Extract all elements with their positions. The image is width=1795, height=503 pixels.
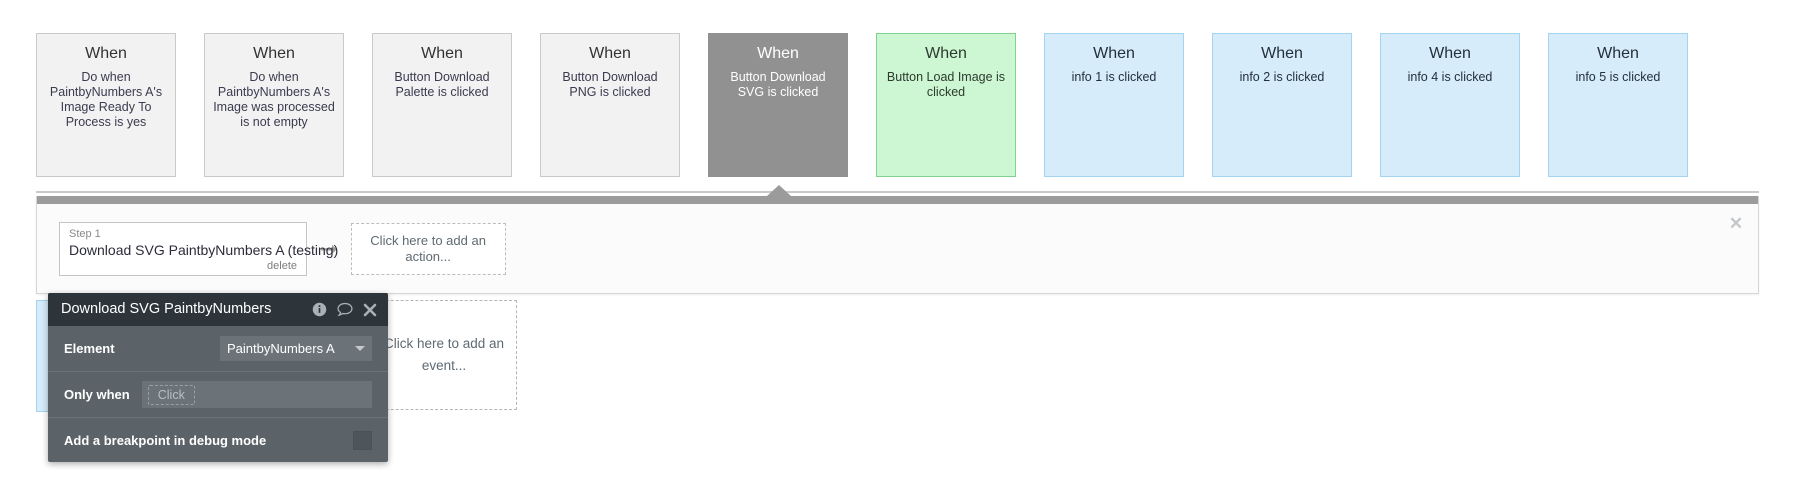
close-icon[interactable] [363, 303, 377, 317]
step-number-label: Step 1 [69, 228, 297, 241]
event-card-description: Button Download SVG is clicked [717, 70, 839, 100]
only-when-input[interactable]: Click [142, 381, 372, 408]
workflow-actions-panel: ✕ Step 1 Download SVG PaintbyNumbers A (… [36, 196, 1759, 294]
breakpoint-checkbox[interactable] [353, 431, 372, 450]
add-event-placeholder[interactable]: Click here to add an event... [371, 300, 517, 410]
event-card-title: When [1389, 44, 1511, 64]
add-action-placeholder[interactable]: Click here to add an action... [351, 223, 506, 275]
event-cards-strip: When Do when PaintbyNumbers A's Image Re… [0, 0, 1795, 196]
workflow-step-1[interactable]: Step 1 Download SVG PaintbyNumbers A (te… [59, 222, 307, 276]
add-event-label: Click here to add an event... [382, 333, 506, 377]
property-editor-header: Download SVG PaintbyNumbers [48, 293, 388, 326]
event-card-description: Button Download Palette is clicked [381, 70, 503, 100]
event-card-description: Do when PaintbyNumbers A's Image was pro… [213, 70, 335, 130]
only-when-placeholder: Click [148, 385, 195, 405]
actions-row: Step 1 Download SVG PaintbyNumbers A (te… [59, 222, 506, 276]
event-card-title: When [717, 44, 839, 64]
event-card-title: When [1557, 44, 1679, 64]
add-action-label: Click here to add an action... [360, 233, 497, 265]
event-card-description: Button Download PNG is clicked [549, 70, 671, 100]
element-row: Element PaintbyNumbers A [48, 326, 388, 372]
element-label: Element [64, 341, 115, 356]
event-card-info-1-clicked[interactable]: When info 1 is clicked [1044, 33, 1184, 177]
step-delete-button[interactable]: delete [267, 260, 297, 272]
element-select-value: PaintbyNumbers A [227, 341, 349, 356]
strip-divider [36, 191, 1759, 193]
step-title: Download SVG PaintbyNumbers A (testing) [69, 242, 297, 259]
event-card-description: info 2 is clicked [1221, 70, 1343, 85]
event-card-title: When [1221, 44, 1343, 64]
event-card-download-palette-clicked[interactable]: When Button Download Palette is clicked [372, 33, 512, 177]
panel-top-bar [37, 196, 1758, 204]
event-card-title: When [213, 44, 335, 64]
comment-icon[interactable] [337, 302, 353, 317]
action-property-editor: Download SVG PaintbyNumbers E [48, 293, 388, 462]
info-icon[interactable] [312, 302, 327, 317]
event-card-info-5-clicked[interactable]: When info 5 is clicked [1548, 33, 1688, 177]
event-card-title: When [549, 44, 671, 64]
property-editor-title: Download SVG PaintbyNumbers [61, 293, 302, 326]
event-card-description: Button Load Image is clicked [885, 70, 1007, 100]
event-card-download-png-clicked[interactable]: When Button Download PNG is clicked [540, 33, 680, 177]
only-when-label: Only when [64, 387, 130, 402]
event-card-title: When [885, 44, 1007, 64]
event-card-description: Do when PaintbyNumbers A's Image Ready T… [45, 70, 167, 130]
event-card-image-was-processed[interactable]: When Do when PaintbyNumbers A's Image wa… [204, 33, 344, 177]
only-when-row: Only when Click [48, 372, 388, 418]
event-card-title: When [45, 44, 167, 64]
panel-caret-icon [767, 185, 791, 196]
element-select[interactable]: PaintbyNumbers A [220, 336, 372, 361]
breakpoint-label: Add a breakpoint in debug mode [64, 433, 266, 448]
event-card-description: info 1 is clicked [1053, 70, 1175, 85]
event-card-title: When [381, 44, 503, 64]
event-card-image-ready-to-process[interactable]: When Do when PaintbyNumbers A's Image Re… [36, 33, 176, 177]
event-card-info-2-clicked[interactable]: When info 2 is clicked [1212, 33, 1352, 177]
breakpoint-row: Add a breakpoint in debug mode [48, 418, 388, 462]
event-card-load-image-clicked[interactable]: When Button Load Image is clicked [876, 33, 1016, 177]
event-card-info-4-clicked[interactable]: When info 4 is clicked [1380, 33, 1520, 177]
event-card-description: info 4 is clicked [1389, 70, 1511, 85]
close-icon[interactable]: ✕ [1728, 216, 1744, 232]
workflow-editor-screen: When Do when PaintbyNumbers A's Image Re… [0, 0, 1795, 503]
event-card-title: When [1053, 44, 1175, 64]
event-card-download-svg-clicked[interactable]: When Button Download SVG is clicked [708, 33, 848, 177]
event-card-description: info 5 is clicked [1557, 70, 1679, 85]
chevron-down-icon [355, 346, 365, 351]
